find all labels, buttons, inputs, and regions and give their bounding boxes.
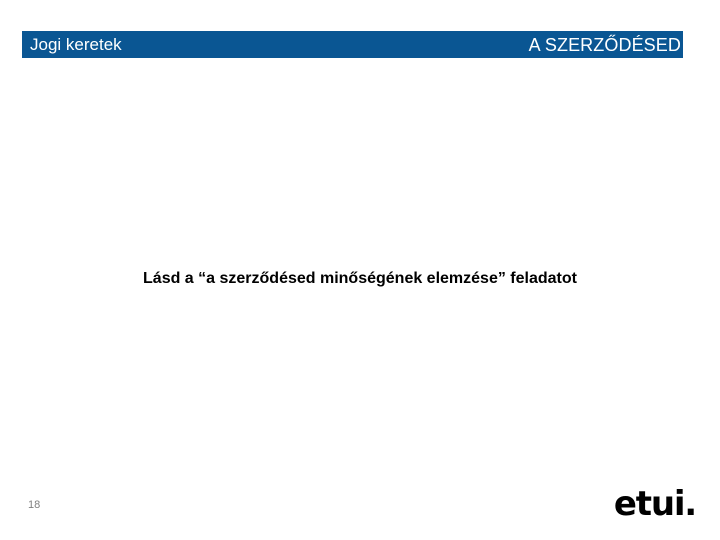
body-text: Lásd a “a szerződésed minőségének elemzé…	[143, 268, 577, 290]
page-number: 18	[28, 499, 40, 512]
etui-logo: etui.	[614, 487, 696, 521]
header-left-title: Jogi keretek	[30, 35, 122, 54]
slide-canvas: Jogi keretek A SZERZŐDÉSED Lásd a “a sze…	[0, 0, 720, 540]
slide-body: Lásd a “a szerződésed minőségének elemzé…	[0, 268, 720, 290]
header-right-title: A SZERZŐDÉSED	[529, 35, 681, 55]
slide-header-band: Jogi keretek A SZERZŐDÉSED	[22, 31, 683, 58]
